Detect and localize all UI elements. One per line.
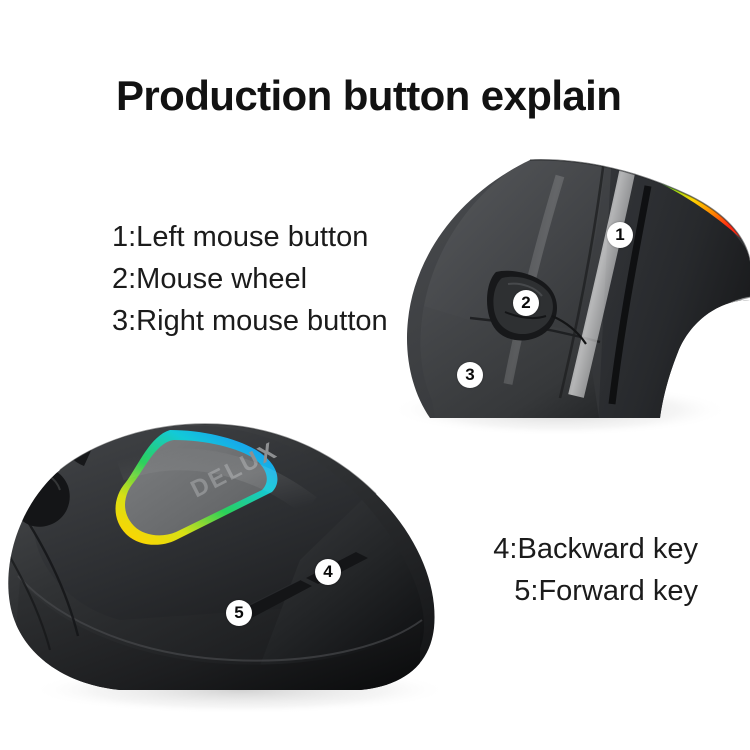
rear-scroll-wheel[interactable] [12, 467, 70, 527]
legend-right-line-4: 4:Backward key [493, 528, 698, 570]
legend-left-line-3: 3:Right mouse button [112, 300, 388, 342]
callout-badge-3: 3 [457, 362, 483, 388]
legend-right: 4:Backward key 5:Forward key [493, 528, 698, 612]
callout-badge-2: 2 [513, 290, 539, 316]
legend-left-line-1: 1:Left mouse button [112, 216, 388, 258]
mouse-rear-view: DELUX [0, 424, 450, 714]
legend-left-line-2: 2:Mouse wheel [112, 258, 388, 300]
mouse-top-view [390, 150, 750, 436]
callout-badge-1: 1 [607, 222, 633, 248]
legend-right-line-5: 5:Forward key [493, 570, 698, 612]
page-title: Production button explain [116, 72, 621, 120]
infographic-page: DELUX Production button explain 1:Left m… [0, 0, 750, 750]
legend-left: 1:Left mouse button 2:Mouse wheel 3:Righ… [112, 216, 388, 342]
callout-badge-5: 5 [226, 600, 252, 626]
callout-badge-4: 4 [315, 559, 341, 585]
